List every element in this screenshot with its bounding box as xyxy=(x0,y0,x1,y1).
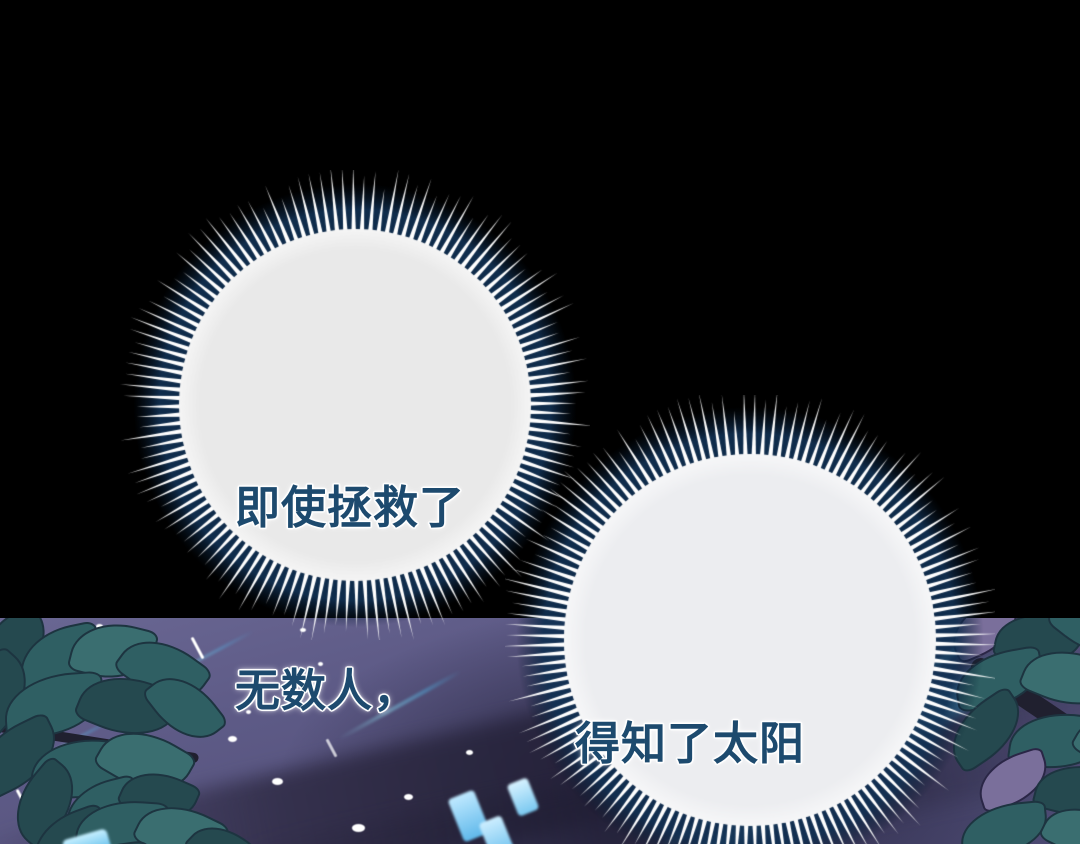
foliage-cluster-bottom-left xyxy=(30,790,270,844)
sparkle xyxy=(352,824,365,832)
leaf xyxy=(958,800,1051,844)
sparkle xyxy=(318,662,323,666)
letterbox-top-bar xyxy=(0,0,1080,618)
sparkle xyxy=(466,750,473,755)
foliage-cluster-right xyxy=(940,618,1080,844)
sparkle xyxy=(272,778,283,785)
comic-panel: 即使拯救了 无数人， 得知了太阳 神把我变成 系统的理由， xyxy=(0,0,1080,844)
background-artwork xyxy=(0,618,1080,844)
sparkle xyxy=(300,628,306,632)
sparkle xyxy=(404,794,413,800)
